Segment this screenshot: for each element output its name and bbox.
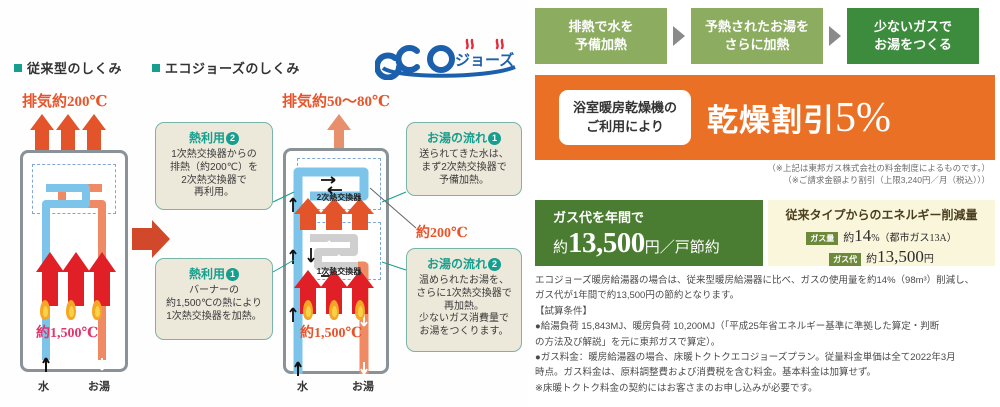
callout-title: お湯の流れ2 (411, 255, 517, 272)
pill-line1: 浴室暖房乾燥機の (573, 99, 677, 117)
energy-row-tag: ガス量 (806, 232, 838, 245)
callout-number: 2 (226, 132, 239, 145)
ecojoes-logo: ジョーズ (375, 34, 525, 80)
energy-row-gas-volume: ガス量 約14%（都市ガス13A） (776, 226, 987, 246)
discount-banner: 浴室暖房乾燥機の ご利用により 乾燥割引5% (535, 75, 995, 160)
savings-amount: 13,500 (568, 227, 645, 259)
energy-number: 13,500 (877, 247, 924, 266)
savings-suffix: 円／戸節約 (645, 240, 720, 256)
callout-number: 2 (488, 258, 501, 271)
energy-unit: 円 (924, 254, 934, 265)
step-line2: 予備加熱 (575, 36, 627, 54)
conventional-outlet-label: お湯 (88, 378, 110, 394)
annual-savings-box: ガス代を年間で 約13,500円／戸節約 (535, 200, 763, 266)
savings-label: ガス代を年間で (553, 207, 763, 226)
mechanism-diagram-panel: 従来型のしくみ エコジョーズのしくみ ジョーズ (0, 0, 528, 407)
bullet-square-icon (14, 64, 22, 72)
svg-text:ジョーズ: ジョーズ (455, 51, 514, 69)
pill-line2: ご利用により (573, 118, 677, 136)
energy-prefix: 約 (866, 253, 877, 265)
heading-conventional: 従来型のしくみ (14, 58, 122, 77)
discount-condition-pill: 浴室暖房乾燥機の ご利用により (559, 90, 691, 144)
footnote-line: ガス代が1年間で約13,500円の節約となります。 (535, 288, 997, 303)
energy-reduction-box: 従来タイプからのエネルギー削減量 ガス量 約14%（都市ガス13A） ガス代 約… (768, 200, 995, 266)
process-steps: 排熱で水を 予備加熱 予熱されたお湯を さらに加熱 少ないガスで お湯をつくる (535, 8, 979, 64)
step-line1: 予熱されたお湯を (705, 18, 809, 36)
energy-row-tag: ガス代 (829, 253, 861, 266)
discount-label: 乾燥割引 (707, 103, 835, 138)
callout-body: 温められたお湯を、さらに1次熱交換器で再加熱。少ないガス消費量でお湯をつくります… (411, 275, 517, 339)
infographic-root: 従来型のしくみ エコジョーズのしくみ ジョーズ (0, 0, 1000, 407)
energy-unit: %（都市ガス13A） (871, 233, 957, 244)
fineprint-line-2: （※ご請求金額より割引（上限3,240円／月（税込））） (767, 174, 990, 186)
footnotes-block: エコジョーズ暖房給湯器の場合は、従来型暖房給湯器に比べ、ガスの使用量を約14%（… (535, 273, 997, 396)
callout-title: 熱利用2 (160, 129, 268, 146)
bullet-square-icon (152, 64, 160, 72)
savings-prefix: 約 (553, 240, 568, 256)
callout-connectors (270, 150, 410, 370)
footnote-line: エコジョーズ暖房給湯器の場合は、従来型暖房給湯器に比べ、ガスの使用量を約14%（… (535, 273, 997, 288)
flame-icon (92, 300, 102, 320)
eco-inlet-label: 水 (297, 378, 308, 394)
footnote-line: 時点。ガス料金は、原料調整費および消費税を含む料金。基本料金は加算せず。 (535, 365, 997, 380)
energy-reduction-header: 従来タイプからのエネルギー削減量 (776, 206, 987, 223)
process-step-1: 排熱で水を 予備加熱 (535, 8, 667, 64)
fineprint-line-1: （※上記は東邦ガス株式会社の料金制度によるものです。） (767, 162, 990, 174)
step-line2: お湯をつくる (874, 36, 952, 54)
process-step-3: 少ないガスで お湯をつくる (847, 8, 979, 64)
callout-title: 熱利用1 (160, 265, 268, 282)
footnote-line: ※床暖トクトク料金の契約にはお客さまのお申し込みが必要です。 (535, 381, 997, 396)
discount-headline: 乾燥割引5% (707, 94, 891, 142)
callout-title: お湯の流れ1 (411, 129, 517, 146)
heading-eco: エコジョーズのしくみ (152, 58, 300, 77)
callout-number: 1 (226, 268, 239, 281)
footnote-line: ●給湯負荷 15,843MJ、暖房負荷 10,200MJ（「平成25年省エネルギ… (535, 319, 997, 334)
eco-exhaust-temp: 排気約50〜80℃ (282, 90, 390, 111)
callout-hot-water-flow-2: お湯の流れ2 温められたお湯を、さらに1次熱交換器で再加熱。少ないガス消費量でお… (406, 248, 522, 352)
eco-outlet-label: お湯 (352, 378, 374, 394)
step-line1: 排熱で水を (568, 18, 633, 36)
callout-number: 1 (488, 132, 501, 145)
eco-mid-temp: 約200℃ (416, 222, 468, 242)
conventional-inlet-label: 水 (38, 378, 49, 394)
footnote-line: ●ガス料金：暖房給湯器の場合、床暖トクトクエコジョーズプラン。従量料金単価は全て… (535, 350, 997, 365)
footnote-line: の方法及び解説」を元に東邦ガスで算定）。 (535, 335, 997, 350)
conventional-burner-temp: 約1,500℃ (36, 322, 98, 342)
step-arrow-icon (823, 24, 847, 48)
step-line1: 少ないガスで (874, 18, 952, 36)
callout-heat-use-2: 熱利用2 1次熱交換器からの排熱（約200℃）を2次熱交換器で再利用。 (155, 122, 273, 210)
step-line2: さらに加熱 (724, 36, 789, 54)
transition-arrow-icon (132, 218, 172, 260)
callout-hot-water-flow-1: お湯の流れ1 送られてきた水は、まず2次熱交換器で予備加熱。 (406, 122, 522, 196)
energy-row-gas-cost: ガス代 約13,500円 (776, 247, 987, 267)
callout-body: バーナーの約1,500℃の熱により1次熱交換器を加熱。 (160, 285, 268, 323)
step-arrow-icon (667, 24, 691, 48)
callout-body: 送られてきた水は、まず2次熱交換器で予備加熱。 (411, 149, 517, 187)
process-step-2: 予熱されたお湯を さらに加熱 (691, 8, 823, 64)
footnote-line: 【試算条件】 (535, 304, 997, 319)
callout-body: 1次熱交換器からの排熱（約200℃）を2次熱交換器で再利用。 (160, 149, 268, 200)
flame-icon (66, 300, 76, 320)
benefits-panel: 排熱で水を 予備加熱 予熱されたお湯を さらに加熱 少ないガスで お湯をつくる … (528, 0, 1000, 407)
discount-fineprint: （※上記は東邦ガス株式会社の料金制度によるものです。） （※ご請求金額より割引（… (767, 162, 990, 187)
energy-row-value: 約13,500円 (866, 247, 934, 267)
energy-prefix: 約 (843, 232, 854, 244)
flame-icon (40, 300, 50, 320)
energy-row-value: 約14%（都市ガス13A） (843, 226, 957, 246)
savings-amount-row: 約13,500円／戸節約 (553, 227, 763, 260)
conventional-exhaust-temp: 排気約200℃ (22, 90, 107, 111)
energy-number: 14 (854, 226, 871, 245)
callout-heat-use-1: 熱利用1 バーナーの約1,500℃の熱により1次熱交換器を加熱。 (155, 258, 273, 340)
discount-value: 5% (835, 95, 891, 141)
